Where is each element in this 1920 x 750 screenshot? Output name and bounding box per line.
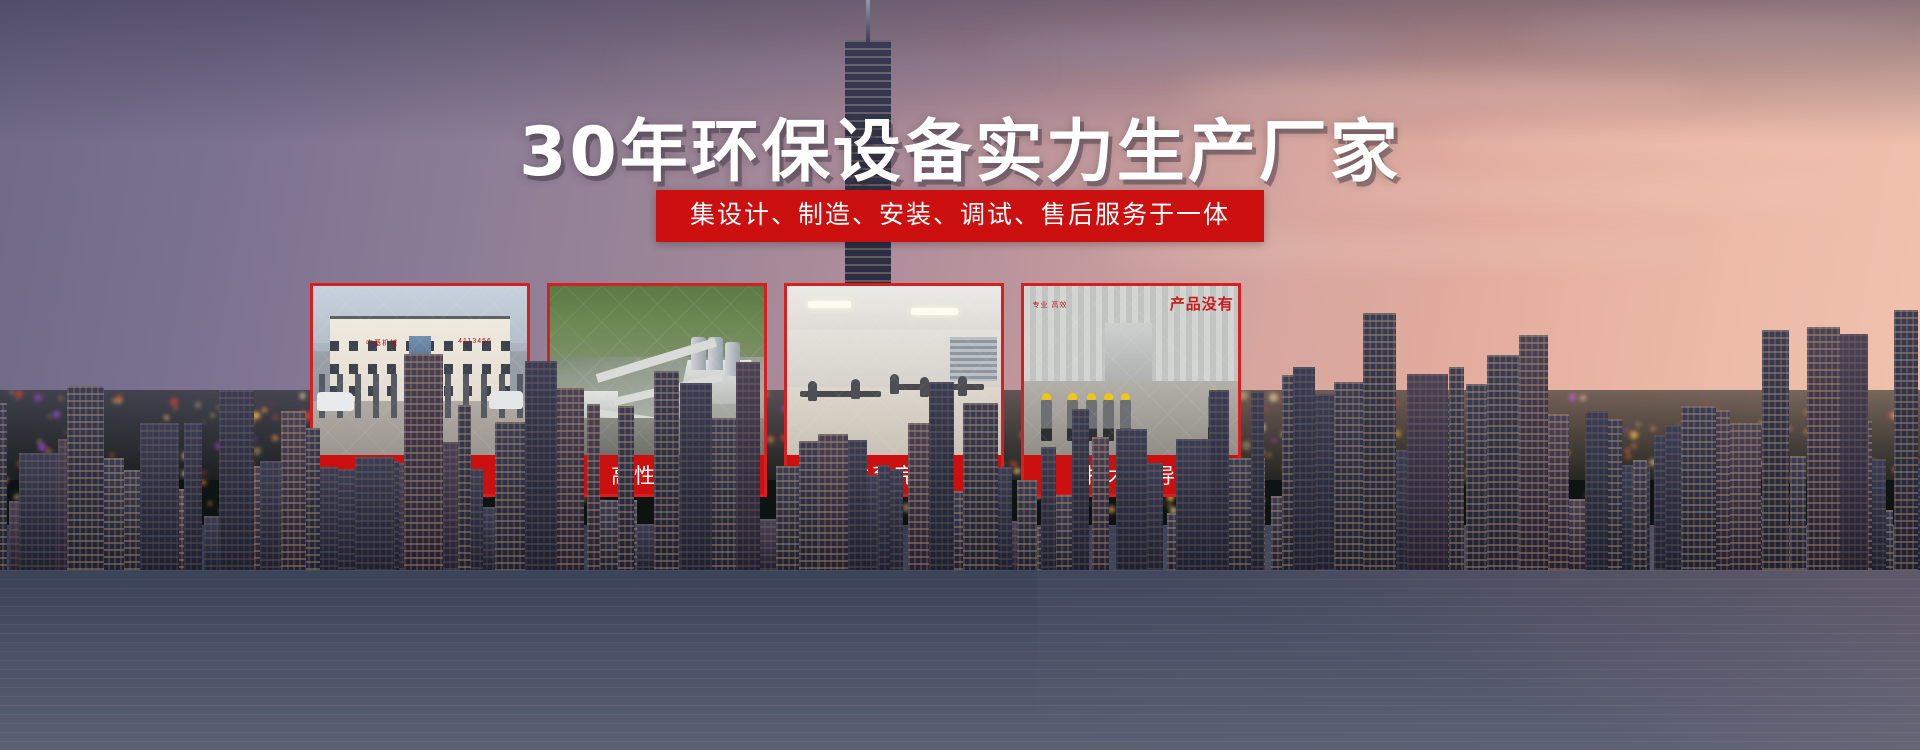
bokeh-light <box>34 394 41 401</box>
skyline-building <box>1681 406 1716 570</box>
bokeh-light <box>1580 395 1586 401</box>
bokeh-light <box>1651 426 1655 430</box>
bokeh-light <box>1636 423 1640 427</box>
skyline-building <box>736 362 760 570</box>
skyline-building <box>404 354 443 570</box>
skyline-building <box>1519 335 1548 570</box>
hero-banner: 30年环保设备实力生产厂家 集设计、制造、安装、调试、售后服务于一体 中基机械 … <box>0 0 1920 750</box>
skyline-building <box>458 405 471 570</box>
skyline-building <box>878 465 890 570</box>
bokeh-light <box>253 447 261 455</box>
skyline-building <box>281 411 306 570</box>
skyline-building <box>495 422 527 570</box>
bokeh-light <box>1748 390 1752 394</box>
skyline-building <box>1790 456 1806 570</box>
skyline-building <box>67 386 104 570</box>
bokeh-light <box>48 415 51 418</box>
skyline-building <box>618 406 634 570</box>
skyline-building <box>799 441 819 570</box>
skyline-building <box>355 457 394 570</box>
bokeh-light <box>201 480 205 484</box>
bokeh-light <box>1108 506 1115 513</box>
bokeh-light <box>203 421 206 424</box>
bokeh-light <box>1702 392 1705 395</box>
skyline-building <box>818 434 848 570</box>
bokeh-light <box>211 414 214 417</box>
bokeh-light <box>117 397 123 403</box>
bokeh-light <box>16 398 18 400</box>
bokeh-light <box>10 390 13 393</box>
bokeh-light <box>1705 402 1709 406</box>
bokeh-light <box>195 402 201 408</box>
photo-sign-text: 产品没有 <box>1170 293 1234 314</box>
skyline-building <box>963 403 998 570</box>
skyline-building <box>1449 367 1464 570</box>
photo-slogan-text: 专业 高效 <box>1033 300 1068 310</box>
skyline-building <box>0 403 7 570</box>
bokeh-light <box>170 398 178 406</box>
skyline-building <box>1116 429 1147 570</box>
skyline-building <box>1072 409 1089 570</box>
bokeh-light <box>1264 408 1268 412</box>
skyline-building <box>19 453 61 570</box>
tower-spire <box>866 0 870 42</box>
skyline-building <box>587 404 600 570</box>
skyline-building <box>1363 313 1396 570</box>
bokeh-light <box>1624 427 1630 433</box>
skyline-building <box>1251 391 1264 570</box>
bokeh-light <box>262 408 266 412</box>
skyline-building <box>654 371 679 570</box>
page-title: 30年环保设备实力生产厂家 <box>0 96 1920 195</box>
bokeh-light <box>110 453 114 457</box>
bokeh-light <box>164 415 168 419</box>
bokeh-light <box>208 502 211 505</box>
bokeh-light <box>300 393 305 398</box>
skyline-building <box>1894 310 1918 570</box>
bokeh-light <box>174 407 177 410</box>
skyline-building <box>1548 414 1569 570</box>
subtitle-badge: 集设计、制造、安装、调试、售后服务于一体 <box>656 190 1264 242</box>
subtitle-row: 集设计、制造、安装、调试、售后服务于一体 <box>0 190 1920 242</box>
bokeh-light <box>1630 431 1638 439</box>
bokeh-light <box>1242 441 1251 450</box>
skyline-building <box>1633 460 1647 570</box>
skyline-building <box>184 423 202 570</box>
skyline-building <box>140 423 179 570</box>
photo-sign-text: 中基机械 <box>366 338 398 348</box>
bokeh-light <box>273 415 279 421</box>
bokeh-light <box>38 443 46 451</box>
cloud <box>1520 20 1900 48</box>
bokeh-light <box>272 435 278 441</box>
cloud <box>620 55 1040 81</box>
skyline-building <box>1092 437 1109 570</box>
bokeh-light <box>1272 439 1275 442</box>
bokeh-light <box>53 411 60 418</box>
skyline-building <box>1209 390 1229 570</box>
skyline-building <box>1762 330 1789 570</box>
skyline-building <box>1466 384 1487 570</box>
skyline-building <box>1017 480 1037 570</box>
bokeh-light <box>1625 448 1630 453</box>
bokeh-light <box>271 403 274 406</box>
skyline-building <box>1407 374 1448 570</box>
bokeh-light <box>1569 394 1577 402</box>
bokeh-light <box>1631 443 1637 449</box>
skyline-building <box>1041 447 1056 570</box>
bokeh-light <box>1267 453 1271 457</box>
skyline-building <box>1293 367 1315 570</box>
skyline-building <box>776 466 800 570</box>
skyline-building <box>680 383 712 570</box>
bokeh-light <box>59 397 62 400</box>
bokeh-light <box>1269 393 1278 402</box>
skyline-building <box>1807 327 1840 570</box>
skyline-building <box>929 382 954 570</box>
cloud <box>980 30 1400 64</box>
photo-phone-text: 4113456 <box>458 338 492 345</box>
bokeh-light <box>203 471 206 474</box>
skyline-building <box>219 390 254 570</box>
skyline-building <box>525 361 557 570</box>
skyline-building <box>1585 411 1608 570</box>
bokeh-light <box>1626 454 1631 459</box>
bokeh-light <box>12 394 14 396</box>
